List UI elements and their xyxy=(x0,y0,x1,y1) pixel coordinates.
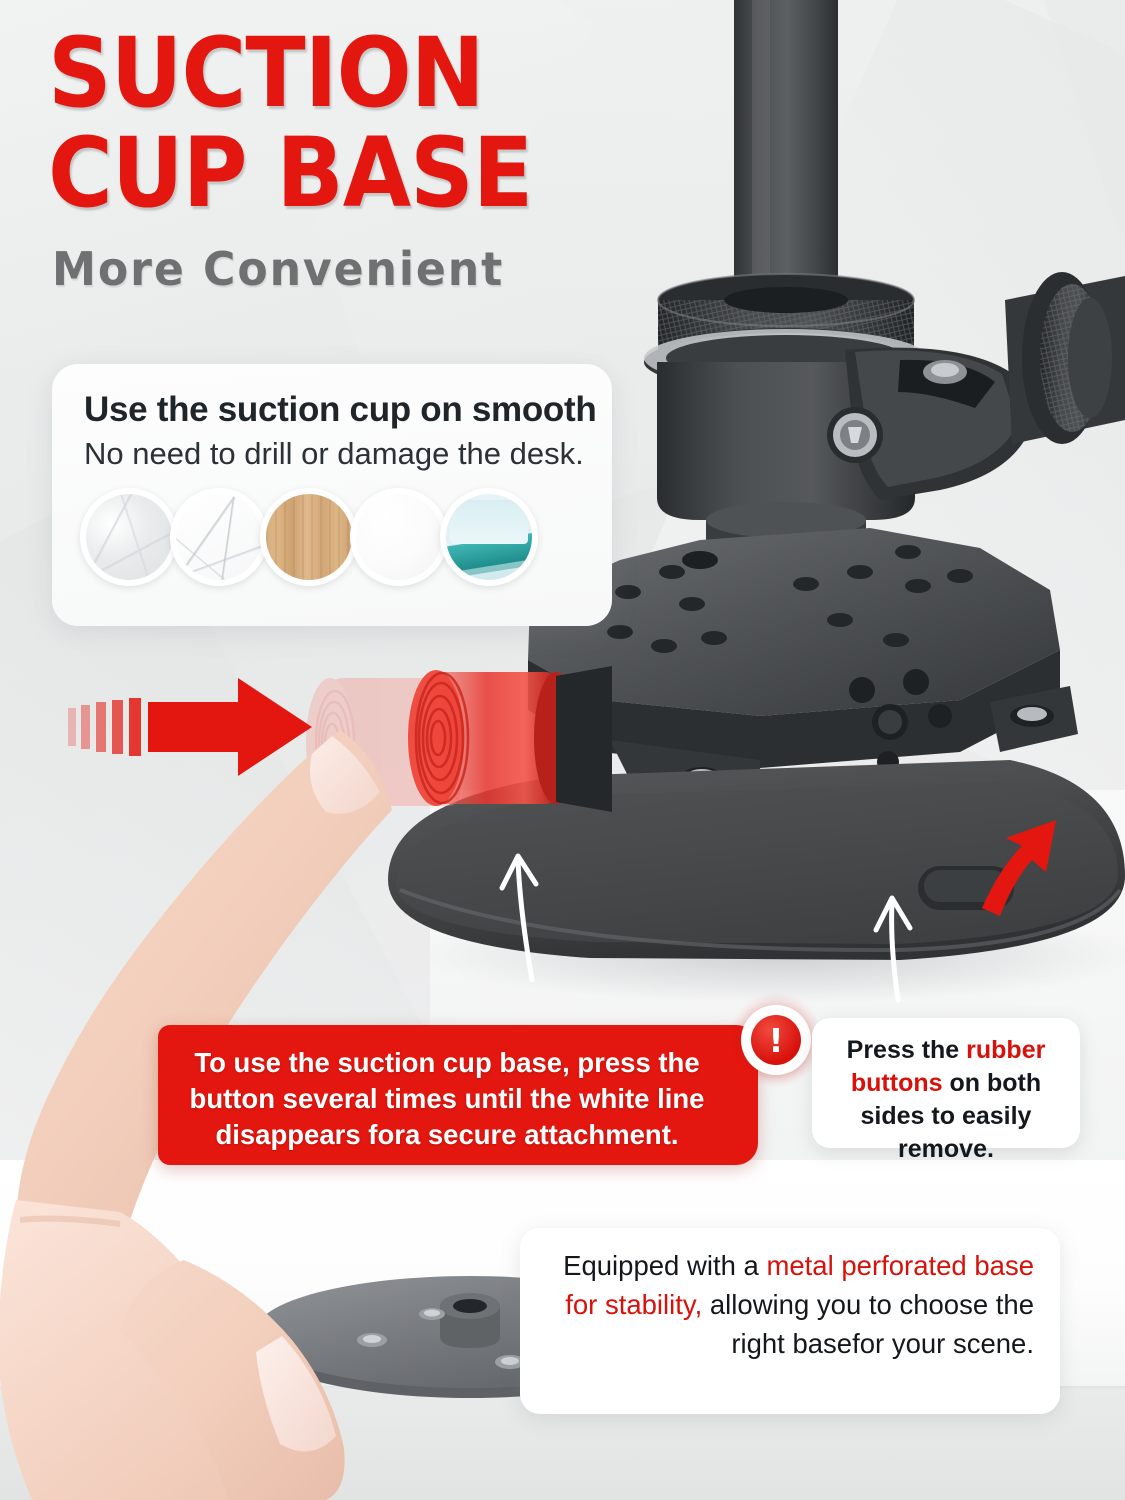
mb-part2: allowing you to choose the right basefor… xyxy=(702,1289,1034,1359)
smooth-card-subtext: No need to drill or damage the desk. xyxy=(52,430,612,472)
page-title: SUCTION CUP BASE More Convenient xyxy=(48,26,708,296)
alert-exclamation-icon: ! xyxy=(728,992,824,1088)
rubber-buttons-callout: Press the rubber buttons on both sides t… xyxy=(812,1018,1080,1148)
smooth-surface-card: Use the suction cup on smooth No need to… xyxy=(52,364,612,626)
wood-surface-swatch xyxy=(260,488,358,586)
rb-part1: Press the xyxy=(847,1036,967,1064)
surface-swatch-row xyxy=(52,472,612,586)
smooth-card-heading: Use the suction cup on smooth xyxy=(52,364,612,430)
white-surface-swatch xyxy=(350,488,448,586)
metal-base-callout: Equipped with a metal perforated base fo… xyxy=(520,1228,1060,1414)
infographic-canvas: SUCTION CUP BASE More Convenient Use the… xyxy=(0,0,1125,1500)
marble-surface-swatch xyxy=(170,488,268,586)
title-line-2: CUP BASE xyxy=(48,126,655,220)
title-line-1: SUCTION xyxy=(48,26,655,120)
stone-surface-swatch xyxy=(80,488,178,586)
rubber-buttons-text: Press the rubber buttons on both sides t… xyxy=(812,1018,1080,1166)
press-direction-arrow xyxy=(68,672,318,782)
rb-highlight2: buttons xyxy=(851,1069,943,1097)
instruction-banner-text: To use the suction cup base, press the b… xyxy=(158,1045,736,1152)
alert-glyph: ! xyxy=(751,1015,801,1065)
page-subtitle: More Convenient xyxy=(52,242,682,296)
rb-highlight1: rubber xyxy=(966,1036,1045,1064)
glass-surface-swatch xyxy=(440,488,538,586)
metal-base-text: Equipped with a metal perforated base fo… xyxy=(520,1228,1060,1363)
instruction-banner: To use the suction cup base, press the b… xyxy=(158,1025,758,1165)
mb-part1: Equipped with a xyxy=(563,1250,766,1281)
